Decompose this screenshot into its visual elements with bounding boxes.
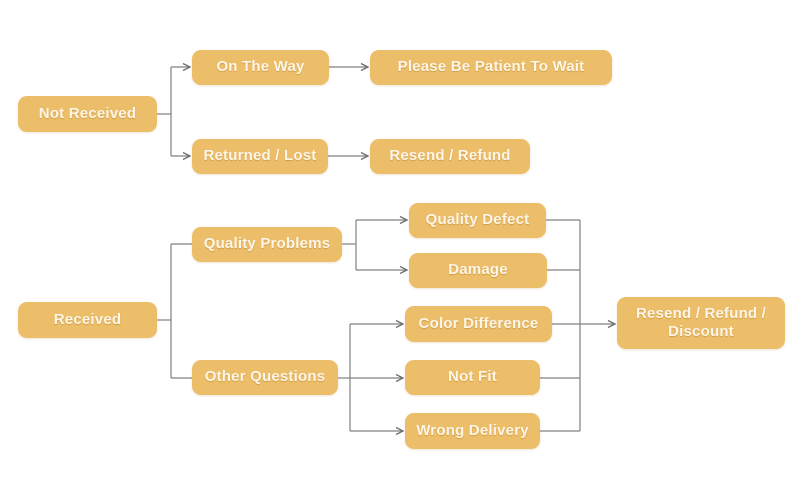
node-color-difference[interactable]: Color Difference: [405, 306, 552, 342]
node-received[interactable]: Received: [18, 302, 157, 338]
node-wrong-delivery[interactable]: Wrong Delivery: [405, 413, 540, 449]
node-quality-problems-label: Quality Problems: [204, 235, 331, 253]
node-please-be-patient-to-wait[interactable]: Please Be Patient To Wait: [370, 50, 612, 85]
node-quality-defect-label: Quality Defect: [426, 211, 530, 229]
node-on-the-way[interactable]: On The Way: [192, 50, 329, 85]
node-color-difference-label: Color Difference: [419, 315, 539, 333]
node-final-resolution[interactable]: Resend / Refund / Discount: [617, 297, 785, 349]
node-damage-label: Damage: [448, 261, 508, 279]
node-other-questions-label: Other Questions: [205, 368, 326, 386]
node-wrong-delivery-label: Wrong Delivery: [416, 422, 529, 440]
flowchart-canvas: Not Received Received On The Way Returne…: [0, 0, 800, 500]
node-other-questions[interactable]: Other Questions: [192, 360, 338, 395]
node-received-label: Received: [54, 311, 121, 329]
node-resend-refund-label: Resend / Refund: [389, 147, 510, 165]
node-on-the-way-label: On The Way: [216, 58, 304, 76]
node-returned-lost-label: Returned / Lost: [203, 147, 316, 165]
node-returned-lost[interactable]: Returned / Lost: [192, 139, 328, 174]
node-not-fit[interactable]: Not Fit: [405, 360, 540, 395]
node-resend-refund[interactable]: Resend / Refund: [370, 139, 530, 174]
node-quality-defect[interactable]: Quality Defect: [409, 203, 546, 238]
node-please-be-patient-to-wait-label: Please Be Patient To Wait: [398, 58, 585, 76]
node-final-resolution-label: Resend / Refund / Discount: [636, 305, 766, 342]
node-not-fit-label: Not Fit: [448, 368, 497, 386]
node-damage[interactable]: Damage: [409, 253, 547, 288]
node-not-received[interactable]: Not Received: [18, 96, 157, 132]
node-quality-problems[interactable]: Quality Problems: [192, 227, 342, 262]
node-not-received-label: Not Received: [39, 105, 136, 123]
